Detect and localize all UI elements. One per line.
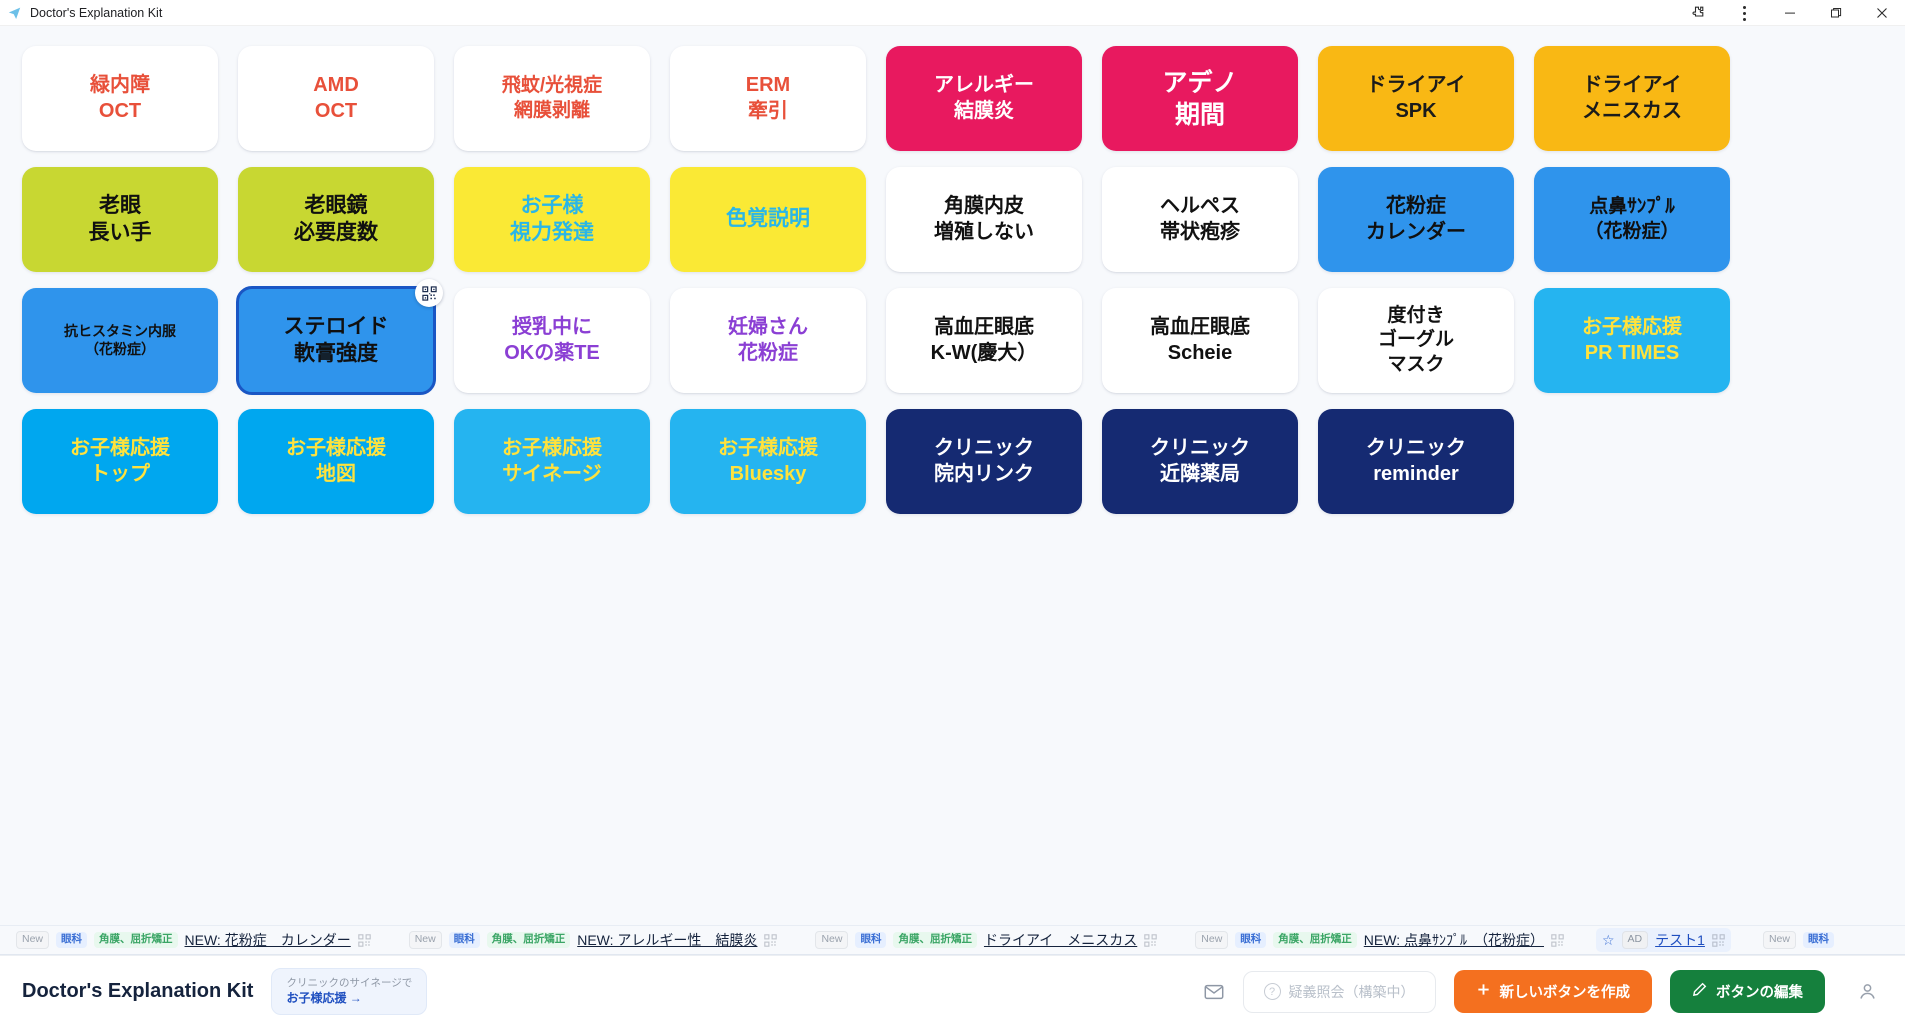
- department-badge: 眼科: [449, 932, 480, 948]
- inquiry-button-disabled: ? 疑義照会（構築中）: [1243, 971, 1436, 1013]
- strip-item[interactable]: New眼科: [1757, 929, 1840, 951]
- promo-line-2: お子様応援 →: [286, 990, 412, 1006]
- grid-card[interactable]: 老眼長い手: [22, 167, 218, 272]
- grid-card-line: ドライアイ: [1583, 73, 1682, 99]
- extensions-puzzle-icon[interactable]: [1675, 0, 1721, 26]
- grid-card-line: 色覚説明: [726, 206, 810, 233]
- grid-card-line: 花粉症: [738, 341, 798, 367]
- grid-card[interactable]: 老眼鏡必要度数: [238, 167, 434, 272]
- grid-card-line: クリニック: [934, 436, 1034, 462]
- grid-card-line: メニスカス: [1582, 99, 1682, 125]
- grid-card-line: 角膜内皮: [944, 194, 1024, 220]
- grid-card-line: トップ: [90, 462, 150, 488]
- grid-card-line: 老眼鏡: [305, 193, 368, 220]
- grid-card-line: Scheie: [1168, 341, 1232, 367]
- qr-badge-icon[interactable]: [415, 279, 443, 307]
- grid-card-line: 飛蚊/光視症: [502, 74, 602, 98]
- department-badge: 眼科: [1803, 932, 1834, 948]
- grid-card-line: クリニック: [1150, 436, 1250, 462]
- grid-card-line: 視力発達: [510, 220, 594, 247]
- subcategory-badge: 角膜、屈折矯正: [487, 932, 571, 948]
- inquiry-label: 疑義照会（構築中）: [1289, 982, 1415, 1002]
- promo-line-1: クリニックのサイネージで: [286, 976, 412, 990]
- qr-icon[interactable]: [764, 934, 777, 947]
- new-badge: New: [16, 931, 49, 949]
- grid-card[interactable]: お子様応援Bluesky: [670, 409, 866, 514]
- button-grid: 緑内障OCTAMDOCT飛蚊/光視症網膜剥離ERM牽引アレルギー結膜炎アデノ期間…: [0, 26, 1760, 514]
- grid-card-line: Bluesky: [730, 462, 807, 488]
- grid-card-line: PR TIMES: [1585, 341, 1679, 367]
- paper-plane-icon: [6, 5, 22, 21]
- grid-card-line: 高血圧眼底: [934, 315, 1034, 341]
- grid-card-line: 期間: [1175, 99, 1225, 131]
- grid-card[interactable]: 色覚説明: [670, 167, 866, 272]
- grid-card-line: カレンダー: [1366, 220, 1466, 246]
- ad-badge: AD: [1622, 931, 1649, 949]
- grid-card[interactable]: お子様応援サイネージ: [454, 409, 650, 514]
- strip-item-title[interactable]: NEW: 点鼻ｻﾝﾌﾟﾙ （花粉症）: [1364, 930, 1544, 950]
- grid-card[interactable]: ステロイド軟膏強度: [238, 288, 434, 393]
- grid-card[interactable]: クリニック院内リンク: [886, 409, 1082, 514]
- star-icon[interactable]: ☆: [1602, 933, 1615, 947]
- grid-card-line: お子様応援: [718, 436, 818, 462]
- grid-card[interactable]: クリニック近隣薬局: [1102, 409, 1298, 514]
- grid-card-line: 老眼: [99, 193, 141, 220]
- grid-card-line: お子様応援: [286, 436, 386, 462]
- minimize-icon[interactable]: [1767, 0, 1813, 26]
- qr-icon[interactable]: [1144, 934, 1157, 947]
- create-new-button[interactable]: 新しいボタンを作成: [1454, 970, 1653, 1013]
- grid-card-line: reminder: [1373, 462, 1459, 488]
- article-strip: New眼科角膜、屈折矯正NEW: 花粉症 カレンダーNew眼科角膜、屈折矯正NE…: [0, 925, 1905, 955]
- grid-card[interactable]: 度付きゴーグルマスク: [1318, 288, 1514, 393]
- strip-item[interactable]: New眼科角膜、屈折矯正NEW: 花粉症 カレンダー: [10, 928, 377, 952]
- grid-card-line: サイネージ: [502, 462, 602, 488]
- department-badge: 眼科: [1235, 932, 1266, 948]
- qr-icon[interactable]: [1551, 934, 1564, 947]
- grid-card[interactable]: アレルギー結膜炎: [886, 46, 1082, 151]
- grid-card-line: ヘルペス: [1160, 194, 1240, 220]
- app-page: 緑内障OCTAMDOCT飛蚊/光視症網膜剥離ERM牽引アレルギー結膜炎アデノ期間…: [0, 26, 1905, 1027]
- user-avatar-icon[interactable]: [1851, 976, 1883, 1008]
- subcategory-badge: 角膜、屈折矯正: [1273, 932, 1357, 948]
- browser-title-bar: Doctor's Explanation Kit: [0, 0, 1905, 26]
- question-mark-icon: ?: [1264, 983, 1281, 1000]
- grid-card-line: OCT: [99, 99, 141, 125]
- grid-card[interactable]: 飛蚊/光視症網膜剥離: [454, 46, 650, 151]
- grid-card[interactable]: 妊婦さん花粉症: [670, 288, 866, 393]
- grid-card-line: お子様応援: [70, 436, 170, 462]
- grid-card[interactable]: お子様視力発達: [454, 167, 650, 272]
- grid-card-line: ERM: [746, 73, 790, 99]
- strip-item[interactable]: New眼科角膜、屈折矯正NEW: アレルギー性 結膜炎: [403, 928, 784, 952]
- app-footer: Doctor's Explanation Kit クリニックのサイネージで お子…: [0, 955, 1905, 1027]
- grid-card[interactable]: お子様応援トップ: [22, 409, 218, 514]
- promo-card[interactable]: クリニックのサイネージで お子様応援 →: [271, 968, 427, 1014]
- grid-card-line: 長い手: [89, 220, 152, 247]
- grid-card[interactable]: アデノ期間: [1102, 46, 1298, 151]
- pencil-icon: [1692, 982, 1707, 1001]
- grid-card-line: 地図: [316, 462, 356, 488]
- grid-card-line: アデノ: [1162, 67, 1237, 99]
- grid-card-line: 妊婦さん: [728, 315, 808, 341]
- grid-card-line: 近隣薬局: [1160, 462, 1240, 488]
- grid-card-line: クリニック: [1366, 436, 1466, 462]
- plus-icon: [1476, 982, 1491, 1001]
- grid-card-line: 軟膏強度: [294, 341, 378, 368]
- grid-card-line: AMD: [313, 73, 359, 99]
- grid-card-line: お子様: [521, 193, 584, 220]
- subcategory-badge: 角膜、屈折矯正: [94, 932, 178, 948]
- close-icon[interactable]: [1859, 0, 1905, 26]
- grid-card-line: 網膜剥離: [514, 99, 590, 123]
- strip-item[interactable]: ☆ADテスト1: [1596, 928, 1731, 952]
- grid-card-line: マスク: [1387, 353, 1444, 377]
- three-dot-menu-icon[interactable]: [1721, 0, 1767, 26]
- grid-card-line: ゴーグル: [1378, 328, 1454, 352]
- grid-card-line: OCT: [315, 99, 357, 125]
- grid-card-line: K-W(慶大）: [931, 341, 1038, 367]
- strip-item[interactable]: New眼科角膜、屈折矯正ドライアイ メニスカス: [809, 928, 1163, 952]
- new-badge: New: [409, 931, 442, 949]
- strip-item-title[interactable]: テスト1: [1655, 930, 1705, 950]
- department-badge: 眼科: [855, 932, 886, 948]
- grid-card-line: ドライアイ: [1367, 73, 1466, 99]
- mail-icon[interactable]: [1203, 981, 1225, 1003]
- create-new-label: 新しいボタンを作成: [1500, 981, 1631, 1002]
- strip-item-title[interactable]: NEW: アレルギー性 結膜炎: [577, 930, 757, 950]
- grid-card[interactable]: 抗ヒスタミン内服（花粉症）: [22, 288, 218, 393]
- app-brand: Doctor's Explanation Kit: [22, 980, 253, 1003]
- grid-card[interactable]: AMDOCT: [238, 46, 434, 151]
- grid-card-line: 必要度数: [294, 220, 378, 247]
- window-controls: [1675, 0, 1905, 26]
- grid-card-line: 帯状疱疹: [1160, 220, 1240, 246]
- qr-icon[interactable]: [1712, 934, 1725, 947]
- tab-title[interactable]: Doctor's Explanation Kit: [30, 6, 162, 20]
- edit-buttons-label: ボタンの編集: [1716, 981, 1803, 1002]
- grid-card-line: 花粉症: [1386, 194, 1446, 220]
- grid-card[interactable]: 点鼻ｻﾝﾌﾟﾙ（花粉症）: [1534, 167, 1730, 272]
- grid-card[interactable]: 花粉症カレンダー: [1318, 167, 1514, 272]
- grid-card-line: 増殖しない: [934, 220, 1034, 246]
- department-badge: 眼科: [56, 932, 87, 948]
- grid-card-line: 緑内障: [90, 73, 150, 99]
- grid-card[interactable]: 高血圧眼底K-W(慶大）: [886, 288, 1082, 393]
- grid-card-line: 結膜炎: [954, 99, 1014, 125]
- strip-item[interactable]: New眼科角膜、屈折矯正NEW: 点鼻ｻﾝﾌﾟﾙ （花粉症）: [1189, 928, 1570, 952]
- grid-card[interactable]: ERM牽引: [670, 46, 866, 151]
- grid-card-line: お子様応援: [1582, 315, 1682, 341]
- grid-card-line: ステロイド: [284, 314, 389, 341]
- grid-card-line: （花粉症）: [1584, 220, 1679, 244]
- new-badge: New: [815, 931, 848, 949]
- qr-icon[interactable]: [358, 934, 371, 947]
- new-badge: New: [1763, 931, 1796, 949]
- grid-card-line: 院内リンク: [934, 462, 1034, 488]
- grid-card-line: 授乳中に: [512, 315, 592, 341]
- grid-card-line: アレルギー: [934, 73, 1034, 99]
- grid-card[interactable]: 高血圧眼底Scheie: [1102, 288, 1298, 393]
- grid-card-line: OKの薬TE: [504, 341, 600, 367]
- subcategory-badge: 角膜、屈折矯正: [893, 932, 977, 948]
- grid-card[interactable]: お子様応援地図: [238, 409, 434, 514]
- grid-card[interactable]: 角膜内皮増殖しない: [886, 167, 1082, 272]
- grid-card[interactable]: 緑内障OCT: [22, 46, 218, 151]
- grid-card-line: 抗ヒスタミン内服: [64, 323, 176, 341]
- grid-card-line: 牽引: [748, 99, 788, 125]
- grid-card[interactable]: お子様応援PR TIMES: [1534, 288, 1730, 393]
- grid-card-line: 度付き: [1387, 304, 1444, 328]
- new-badge: New: [1195, 931, 1228, 949]
- grid-card[interactable]: 授乳中にOKの薬TE: [454, 288, 650, 393]
- grid-card[interactable]: ドライアイSPK: [1318, 46, 1514, 151]
- grid-card-line: 点鼻ｻﾝﾌﾟﾙ: [1589, 195, 1675, 219]
- grid-card-line: お子様応援: [502, 436, 602, 462]
- grid-card[interactable]: クリニックreminder: [1318, 409, 1514, 514]
- grid-card[interactable]: ヘルペス帯状疱疹: [1102, 167, 1298, 272]
- edit-buttons-button[interactable]: ボタンの編集: [1670, 970, 1825, 1013]
- strip-item-title[interactable]: ドライアイ メニスカス: [984, 930, 1137, 950]
- strip-item-title[interactable]: NEW: 花粉症 カレンダー: [185, 930, 351, 950]
- grid-card-line: （花粉症）: [85, 341, 155, 359]
- grid-card-line: 高血圧眼底: [1150, 315, 1250, 341]
- maximize-icon[interactable]: [1813, 0, 1859, 26]
- grid-card-line: SPK: [1395, 99, 1436, 125]
- grid-card[interactable]: ドライアイメニスカス: [1534, 46, 1730, 151]
